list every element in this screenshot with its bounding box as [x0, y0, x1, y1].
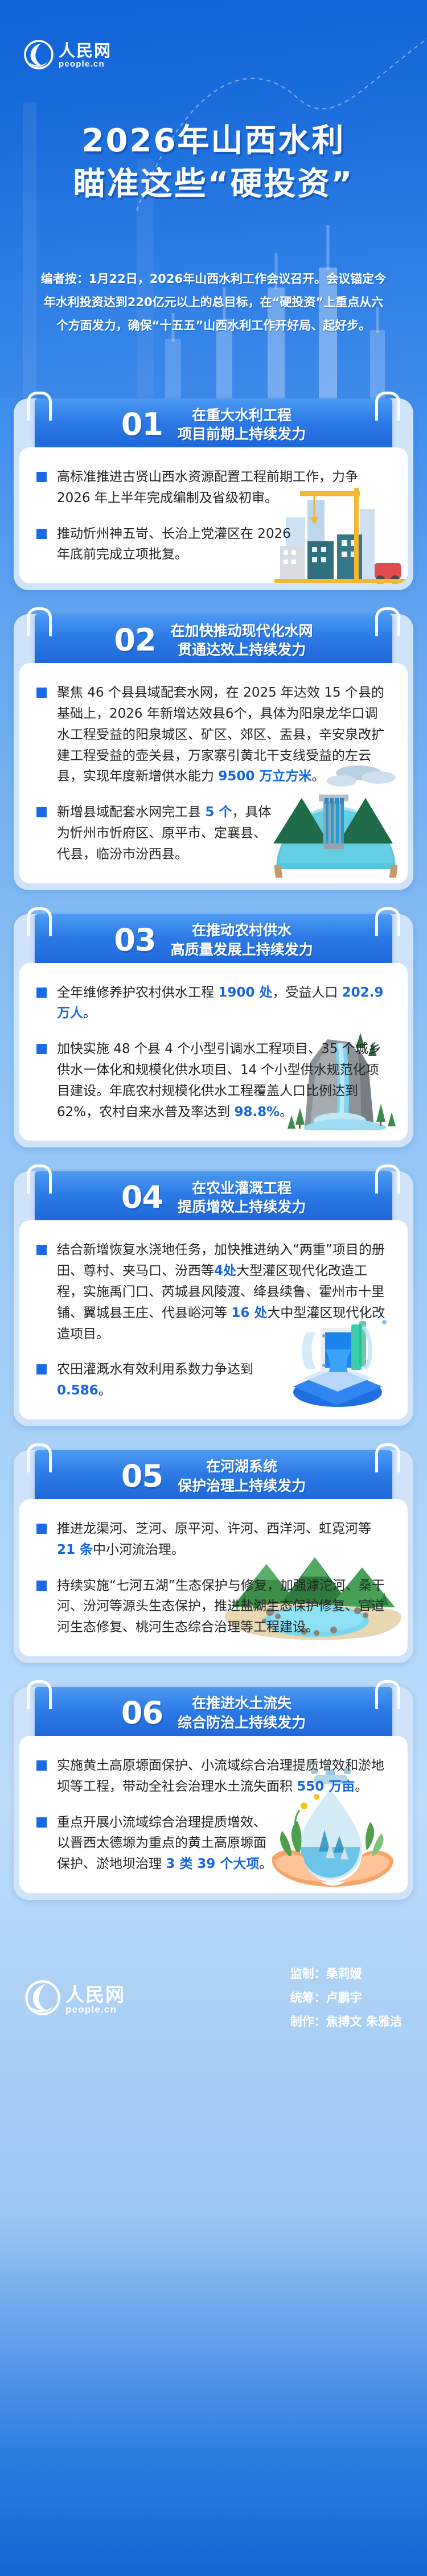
logo-brand-cn: 人民网: [59, 41, 112, 60]
bullet-square-icon: [36, 987, 47, 998]
section-title-line-1: 在推进水土流失: [192, 1695, 291, 1711]
bullet-highlight-value: 1900 处: [218, 985, 272, 1000]
bullet-item: 新增县域配套水网完工县 5 个，具体为忻州市忻府区、原平市、定襄县、代县，临汾市…: [36, 802, 391, 865]
section-ribbon-header: 01 在重大水利工程 项目前期上持续发力: [35, 398, 392, 451]
bullet-text-pre: 农田灌溉水有效利用系数力争达到: [57, 1362, 253, 1377]
credit-role: 监制：: [290, 1967, 326, 1981]
bullet-item: 重点开展小流域综合治理提质增效、以晋西太德塬为重点的黄土高原塬面保护、淤地坝治理…: [36, 1812, 391, 1875]
section-title-line-2: 提质增效上持续发力: [178, 1199, 306, 1215]
bullet-item: 持续实施“七河五湖”生态保护与修复，加强滹沱河、桑干河、汾河等源头生态保护，推进…: [36, 1575, 391, 1638]
section-number: 02: [114, 625, 155, 656]
page-footer: 人民网 people.cn 监制：桑莉媛 统筹：卢鹏宇 制作：焦搏文 朱雅洁: [0, 1924, 427, 2072]
section-title-line-2: 项目前期上持续发力: [178, 426, 306, 442]
section-title: 在推进水土流失 综合防治上持续发力: [178, 1694, 306, 1732]
footer-people-cn-logo[interactable]: 人民网 people.cn: [25, 1980, 125, 2015]
section-body: 结合新增恢复水浇地任务，加快推进纳入“两重”项目的册田、尊村、夹马口、汾西等4处…: [19, 1220, 408, 1419]
section-body: 推进龙渠河、芝河、原平河、许河、西洋河、虹霓河等 21 条中小河流治理。 持续实…: [19, 1499, 408, 1656]
bullet-item: 聚焦 46 个县县域配套水网，在 2025 年达效 15 个县的基础上，2026…: [36, 682, 391, 787]
section-body: 聚焦 46 个县县域配套水网，在 2025 年达效 15 个县的基础上，2026…: [19, 663, 408, 883]
section-card: 02 在加快推动现代化水网 贯通达效上持续发力: [14, 614, 413, 890]
section-title: 在河湖系统 保护治理上持续发力: [178, 1457, 306, 1495]
bullet-item: 农田灌溉水有效利用系数力争达到 0.586。: [36, 1359, 391, 1401]
section-body: 实施黄土高原塬面保护、小流域综合治理提质增效和淤地坝等工程，带动全社会治理水土流…: [19, 1736, 408, 1893]
credit-role: 制作：: [290, 2015, 326, 2028]
section-body: 全年维修养护农村供水工程 1900 处，受益人口 202.9 万人。 加快实施 …: [19, 963, 408, 1141]
footer-logo-text-group: 人民网 people.cn: [65, 1985, 125, 2015]
credit-name: 焦搏文 朱雅洁: [326, 2015, 402, 2028]
bullet-text: 重点开展小流域综合治理提质增效、以晋西太德塬为重点的黄土高原塬面保护、淤地坝治理…: [57, 1812, 277, 1875]
section-title-line-1: 在推动农村供水: [192, 922, 291, 939]
bullet-text: 结合新增恢复水浇地任务，加快推进纳入“两重”项目的册田、尊村、夹马口、汾西等4处…: [57, 1240, 391, 1344]
section-number: 03: [114, 925, 155, 956]
section-ribbon-header: 02 在加快推动现代化水网 贯通达效上持续发力: [35, 614, 392, 666]
bullet-square-icon: [36, 1581, 47, 1591]
credit-line: 监制：桑莉媛: [290, 1962, 402, 1986]
people-cn-logo[interactable]: 人民网 people.cn: [24, 40, 112, 69]
bullet-highlight-value: 5 个: [205, 805, 232, 820]
bullet-text-post: 。: [259, 1857, 272, 1871]
credit-name: 卢鹏宇: [326, 1991, 362, 2005]
bullet-item: 推进龙渠河、芝河、原平河、许河、西洋河、虹霓河等 21 条中小河流治理。: [36, 1519, 391, 1561]
section-body: 高标准推进古贤山西水资源配置工程前期工作，力争 2026 年上半年完成编制及省级…: [19, 447, 408, 583]
section-title: 在重大水利工程 项目前期上持续发力: [178, 406, 306, 444]
footer-brand-cn: 人民网: [65, 1984, 125, 2006]
bullet-text-post: 。: [311, 769, 325, 784]
bullet-square-icon: [36, 1364, 47, 1375]
bullet-text-pre: 推进龙渠河、芝河、原平河、许河、西洋河、虹霓河等: [57, 1521, 371, 1536]
bullet-item: 全年维修养护农村供水工程 1900 处，受益人口 202.9 万人。: [36, 982, 391, 1024]
bullet-text-post: 。: [280, 1105, 293, 1120]
bullet-item: 高标准推进古贤山西水资源配置工程前期工作，力争 2026 年上半年完成编制及省级…: [36, 467, 391, 509]
section-ribbon-header: 03 在推动农村供水 高质量发展上持续发力: [35, 914, 392, 966]
page-title-line-2: 瞄准这些“硬投资”: [0, 163, 427, 206]
bullet-square-icon: [36, 1524, 47, 1534]
section-card: 04 在农业灌溉工程 提质增效上持续发力: [14, 1171, 413, 1426]
section-ribbon-header: 05 在河湖系统 保护治理上持续发力: [35, 1450, 392, 1503]
bullet-square-icon: [36, 472, 47, 482]
section-number: 01: [121, 409, 163, 440]
section-card: 05 在河湖系统 保护治理上持续发力: [14, 1450, 413, 1663]
candlestick-bar: [370, 330, 385, 398]
credit-role: 统筹：: [290, 1991, 326, 2005]
bullet-text: 农田灌溉水有效利用系数力争达到 0.586。: [57, 1359, 277, 1401]
bullet-item: 推动忻州神五岢、长治上党灌区在 2026 年底前完成立项批复。: [36, 524, 391, 566]
editor-note-paragraph: 编者按：1月22日，2026年山西水利工作会议召开。会议锚定今年水利投资达到22…: [39, 268, 388, 338]
bullet-text: 聚焦 46 个县县域配套水网，在 2025 年达效 15 个县的基础上，2026…: [57, 682, 391, 787]
sections-list: 01 在重大水利工程 项目前期上持续发力: [0, 398, 427, 1900]
section-title: 在农业灌溉工程 提质增效上持续发力: [178, 1179, 306, 1217]
bullet-highlight-value: 0.586: [57, 1383, 98, 1398]
section-title-line-2: 高质量发展上持续发力: [171, 941, 313, 958]
page-title: 2026年山西水利 瞄准这些“硬投资”: [0, 120, 427, 205]
bullet-item: 实施黄土高原塬面保护、小流域综合治理提质增效和淤地坝等工程，带动全社会治理水土流…: [36, 1755, 391, 1797]
logo-text-group: 人民网 people.cn: [59, 43, 112, 69]
section-title: 在加快推动现代化水网 贯通达效上持续发力: [171, 622, 313, 660]
bullet-text-post: 。: [98, 1383, 112, 1398]
section-number: 06: [121, 1698, 163, 1729]
bullet-text-pre: 全年维修养护农村供水工程: [57, 985, 218, 1000]
bullet-square-icon: [36, 807, 47, 817]
section-ribbon-header: 06 在推进水土流失 综合防治上持续发力: [35, 1687, 392, 1739]
bullet-text: 新增县域配套水网完工县 5 个，具体为忻州市忻府区、原平市、定襄县、代县，临汾市…: [57, 802, 277, 865]
bullet-item: 结合新增恢复水浇地任务，加快推进纳入“两重”项目的册田、尊村、夹马口、汾西等4处…: [36, 1240, 391, 1344]
bullet-text: 加快实施 48 个县 4 个小型引调水工程项目、35 个城乡供水一体化和规模化供…: [57, 1039, 391, 1122]
section-title-line-2: 贯通达效上持续发力: [178, 641, 306, 658]
bullet-item: 加快实施 48 个县 4 个小型引调水工程项目、35 个城乡供水一体化和规模化供…: [36, 1039, 391, 1122]
bullet-square-icon: [36, 1760, 47, 1771]
section-number: 04: [121, 1182, 163, 1213]
bullet-text-post: 。: [355, 1779, 368, 1794]
bullet-text: 高标准推进古贤山西水资源配置工程前期工作，力争 2026 年上半年完成编制及省级…: [57, 467, 391, 509]
section-title: 在推动农村供水 高质量发展上持续发力: [171, 921, 313, 959]
footer-brand-en: people.cn: [65, 2004, 117, 2015]
bullet-text-pre: 加快实施 48 个县 4 个小型引调水工程项目、35 个城乡供水一体化和规模化供…: [57, 1042, 381, 1119]
people-logo-icon: [24, 40, 54, 69]
bullet-highlight-value: 550 万亩: [297, 1779, 355, 1794]
bullet-square-icon: [36, 529, 47, 539]
section-title-line-1: 在重大水利工程: [192, 407, 291, 423]
bullet-highlight-value: 98.8%: [234, 1105, 280, 1120]
section-title-line-1: 在农业灌溉工程: [192, 1180, 291, 1196]
people-logo-icon: [25, 1980, 60, 2015]
bullet-highlight-value: 9500 万立方米: [218, 769, 311, 784]
candlestick-bar: [165, 339, 181, 398]
section-card: 06 在推进水土流失 综合防治上持续发力: [14, 1687, 413, 1900]
bullet-square-icon: [36, 1245, 47, 1255]
page-title-line-1: 2026年山西水利: [0, 120, 427, 163]
bullet-highlight-value: 3 类 39 个大项: [166, 1857, 259, 1871]
credit-line: 统筹：卢鹏宇: [290, 1986, 402, 2010]
section-card: 03 在推动农村供水 高质量发展上持续发力: [14, 914, 413, 1148]
section-title-line-2: 综合防治上持续发力: [178, 1714, 306, 1731]
section-title-line-1: 在河湖系统: [206, 1458, 277, 1475]
bullet-square-icon: [36, 1817, 47, 1828]
section-ribbon-header: 04 在农业灌溉工程 提质增效上持续发力: [35, 1171, 392, 1224]
bullet-square-icon: [36, 688, 47, 698]
credit-name: 桑莉媛: [326, 1967, 362, 1981]
section-title-line-1: 在加快推动现代化水网: [171, 623, 313, 639]
footer-credits: 监制：桑莉媛 统筹：卢鹏宇 制作：焦搏文 朱雅洁: [290, 1962, 402, 2034]
bullet-text-post: 。: [83, 1006, 96, 1020]
section-card: 01 在重大水利工程 项目前期上持续发力: [14, 398, 413, 590]
bullet-text-post: 中小河流治理。: [93, 1542, 184, 1557]
bullet-text: 推进龙渠河、芝河、原平河、许河、西洋河、虹霓河等 21 条中小河流治理。: [57, 1519, 391, 1561]
bullet-text: 持续实施“七河五湖”生态保护与修复，加强滹沱河、桑干河、汾河等源头生态保护，推进…: [57, 1575, 391, 1638]
bullet-highlight-value: 21 条: [57, 1542, 93, 1557]
bullet-highlight-value: 4处: [214, 1264, 236, 1278]
section-title-line-2: 保护治理上持续发力: [178, 1478, 306, 1494]
bullet-text: 全年维修养护农村供水工程 1900 处，受益人口 202.9 万人。: [57, 982, 391, 1024]
credit-line: 制作：焦搏文 朱雅洁: [290, 2010, 402, 2034]
page-header: 人民网 people.cn 2026年山西水利 瞄准这些“硬投资” 编者按：1月…: [0, 0, 427, 398]
logo-brand-en: people.cn: [59, 59, 105, 69]
bullet-text: 实施黄土高原塬面保护、小流域综合治理提质增效和淤地坝等工程，带动全社会治理水土流…: [57, 1755, 391, 1797]
bullet-text: 推动忻州神五岢、长治上党灌区在 2026 年底前完成立项批复。: [57, 524, 305, 566]
bullet-text-pre: 新增县域配套水网完工县: [57, 805, 205, 820]
section-number: 05: [121, 1461, 163, 1492]
bullet-highlight-value-2: 16 处: [231, 1306, 267, 1320]
bullet-text-mid: ，受益人口: [272, 985, 342, 1000]
bullet-square-icon: [36, 1044, 47, 1054]
